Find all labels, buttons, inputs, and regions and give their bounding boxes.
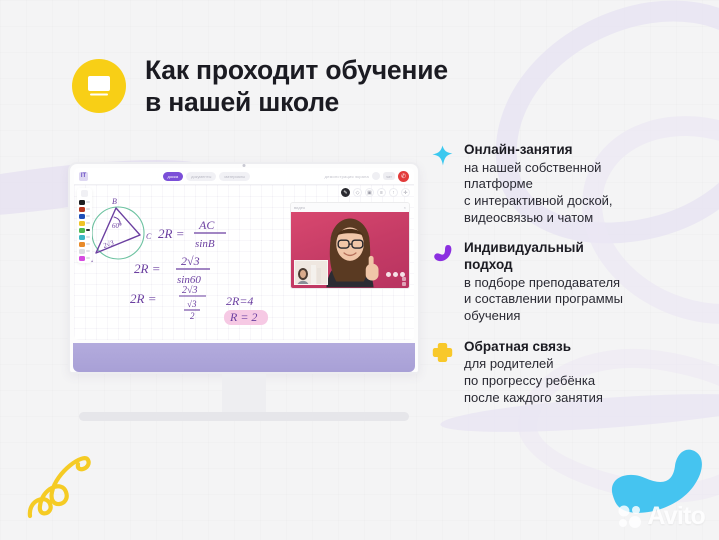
svg-text:60°: 60°	[112, 222, 122, 230]
pen-icon[interactable]: ✎	[341, 188, 350, 197]
page-header: Как проходит обучение в нашей школе	[72, 55, 448, 119]
svg-text:2√3: 2√3	[182, 285, 198, 296]
eraser-icon[interactable]: ◇	[353, 188, 362, 197]
text-icon[interactable]: ≡	[377, 188, 386, 197]
whiteboard-canvas[interactable]: ✎ ◇ ▣ ≡ ↑ ✛	[74, 185, 414, 340]
swatch-yellow[interactable]	[79, 221, 85, 227]
palette-row[interactable]	[79, 235, 90, 241]
palette-tick	[86, 250, 90, 252]
swatch-green[interactable]	[79, 228, 85, 234]
palette-tick	[86, 222, 90, 224]
share-screen-label[interactable]: демонстрация экрана	[325, 174, 369, 179]
avito-watermark: Avito	[617, 502, 705, 531]
video-side-button[interactable]	[402, 282, 406, 286]
palette-row[interactable]	[79, 256, 90, 262]
shapes-icon[interactable]: ▣	[365, 188, 374, 197]
svg-text:2R=4: 2R=4	[226, 294, 253, 308]
swatch-magenta[interactable]	[79, 256, 85, 262]
video-panel-header: видео ×	[291, 203, 409, 212]
monitor-bezel: ΙΤ доска документы материалы демонстраци…	[68, 162, 420, 374]
app-tab-group: доска документы материалы	[163, 172, 251, 181]
monitor-stand-neck	[222, 374, 266, 412]
feature-item-feedback: Обратная связь для родителей по прогресс…	[432, 339, 700, 407]
svg-text:2R =: 2R =	[158, 226, 184, 241]
video-feed	[291, 212, 409, 288]
feature-title: Обратная связь	[464, 339, 603, 356]
feature-item-online-lessons: Онлайн-занятия на нашей собственной плат…	[432, 142, 700, 226]
svg-text:AC: AC	[198, 218, 215, 232]
swatch-cyan[interactable]	[79, 235, 85, 241]
close-icon[interactable]: ×	[404, 205, 406, 210]
palette-row[interactable]	[79, 249, 90, 255]
app-logo: ΙΤ	[79, 172, 88, 181]
tab-board[interactable]: доска	[163, 172, 184, 181]
feature-body: на нашей собственной платформе с интерак…	[464, 160, 613, 227]
app-topbar: ΙΤ доска документы материалы демонстраци…	[74, 168, 414, 185]
avito-dots-icon	[617, 504, 643, 530]
tool-row[interactable]: ✎ ◇ ▣ ≡ ↑ ✛	[341, 188, 410, 197]
header-badge	[72, 59, 126, 113]
tab-documents[interactable]: документы	[186, 172, 216, 181]
svg-text:sinB: sinB	[195, 238, 215, 250]
swatch-orange[interactable]	[79, 242, 85, 248]
palette-tick	[86, 201, 90, 203]
palette-tick	[86, 215, 90, 217]
avito-watermark-text: Avito	[647, 502, 705, 531]
palette-row[interactable]	[79, 228, 90, 234]
swatch-red[interactable]	[79, 207, 85, 213]
tab-materials[interactable]: материалы	[219, 172, 250, 181]
feature-item-individual-approach: Индивидуальный подход в подборе преподав…	[432, 240, 700, 324]
palette-row[interactable]	[79, 242, 90, 248]
feature-icon-wrap	[432, 240, 454, 324]
svg-text:C: C	[146, 232, 152, 241]
pip-scene	[295, 261, 328, 285]
palette-row[interactable]	[79, 200, 90, 206]
palette-tick	[86, 229, 90, 231]
svg-text:2R =: 2R =	[130, 291, 156, 306]
feature-icon-wrap	[432, 142, 454, 226]
palette-row[interactable]	[79, 207, 90, 213]
video-control-dot[interactable]	[386, 272, 391, 277]
settings-icon[interactable]	[372, 172, 380, 180]
webcam-dot-icon	[243, 164, 246, 167]
svg-text:2: 2	[190, 311, 195, 321]
palette-tick	[86, 243, 90, 245]
monitor-screen: ΙΤ доска документы материалы демонстраци…	[74, 168, 414, 340]
feature-text: Онлайн-занятия на нашей собственной плат…	[464, 142, 613, 226]
chat-chip[interactable]: чат	[383, 172, 395, 180]
palette-tick	[86, 257, 90, 259]
monitor-illustration: ΙΤ доска документы материалы демонстраци…	[68, 162, 420, 421]
palette-row[interactable]	[79, 214, 90, 220]
video-side-button[interactable]	[402, 277, 406, 281]
svg-text:2√3: 2√3	[102, 239, 115, 250]
swatch-black[interactable]	[79, 200, 85, 206]
page-title: Как проходит обучение в нашей школе	[145, 55, 448, 119]
video-control-dot[interactable]	[393, 272, 398, 277]
picture-in-picture-thumbnail[interactable]	[294, 260, 328, 285]
feature-body: в подборе преподавателя и составлении пр…	[464, 275, 623, 325]
feature-title: Индивидуальный подход	[464, 240, 623, 273]
palette-header-icon[interactable]	[81, 190, 88, 197]
svg-text:√3: √3	[187, 299, 197, 309]
video-side-controls[interactable]	[402, 277, 406, 287]
feature-text: Обратная связь для родителей по прогресс…	[464, 339, 603, 407]
end-call-button[interactable]: ✆	[398, 171, 409, 182]
swatch-grey[interactable]	[79, 249, 85, 255]
palette-tick	[86, 236, 90, 238]
video-call-panel[interactable]: видео ×	[290, 202, 410, 289]
feature-icon-wrap	[432, 339, 454, 407]
palette-tick	[86, 208, 90, 210]
monitor-chin	[73, 343, 415, 372]
monitor-icon	[85, 74, 113, 98]
app-topbar-right: демонстрация экрана чат ✆	[325, 171, 409, 182]
svg-text:2√3: 2√3	[181, 254, 200, 268]
video-panel-label: видео	[294, 205, 305, 210]
feature-body: для родителей по прогрессу ребёнка после…	[464, 356, 603, 406]
arrow-icon[interactable]: ↑	[389, 188, 398, 197]
plus-icon	[432, 342, 453, 363]
swatch-blue[interactable]	[79, 214, 85, 220]
feature-text: Индивидуальный подход в подборе преподав…	[464, 240, 623, 324]
svg-text:2R =: 2R =	[134, 261, 160, 276]
squiggle-decor-icon	[26, 444, 122, 520]
monitor-stand-base	[79, 412, 409, 421]
svg-text:R = 2: R = 2	[229, 310, 257, 324]
star-icon	[432, 145, 453, 166]
feature-list: Онлайн-занятия на нашей собственной плат…	[432, 142, 700, 420]
crescent-hook-icon	[432, 243, 453, 264]
palette-row[interactable]	[79, 221, 90, 227]
color-palette[interactable]	[77, 188, 92, 263]
svg-text:B: B	[112, 197, 117, 206]
add-icon[interactable]: ✛	[401, 188, 410, 197]
feature-title: Онлайн-занятия	[464, 142, 613, 159]
